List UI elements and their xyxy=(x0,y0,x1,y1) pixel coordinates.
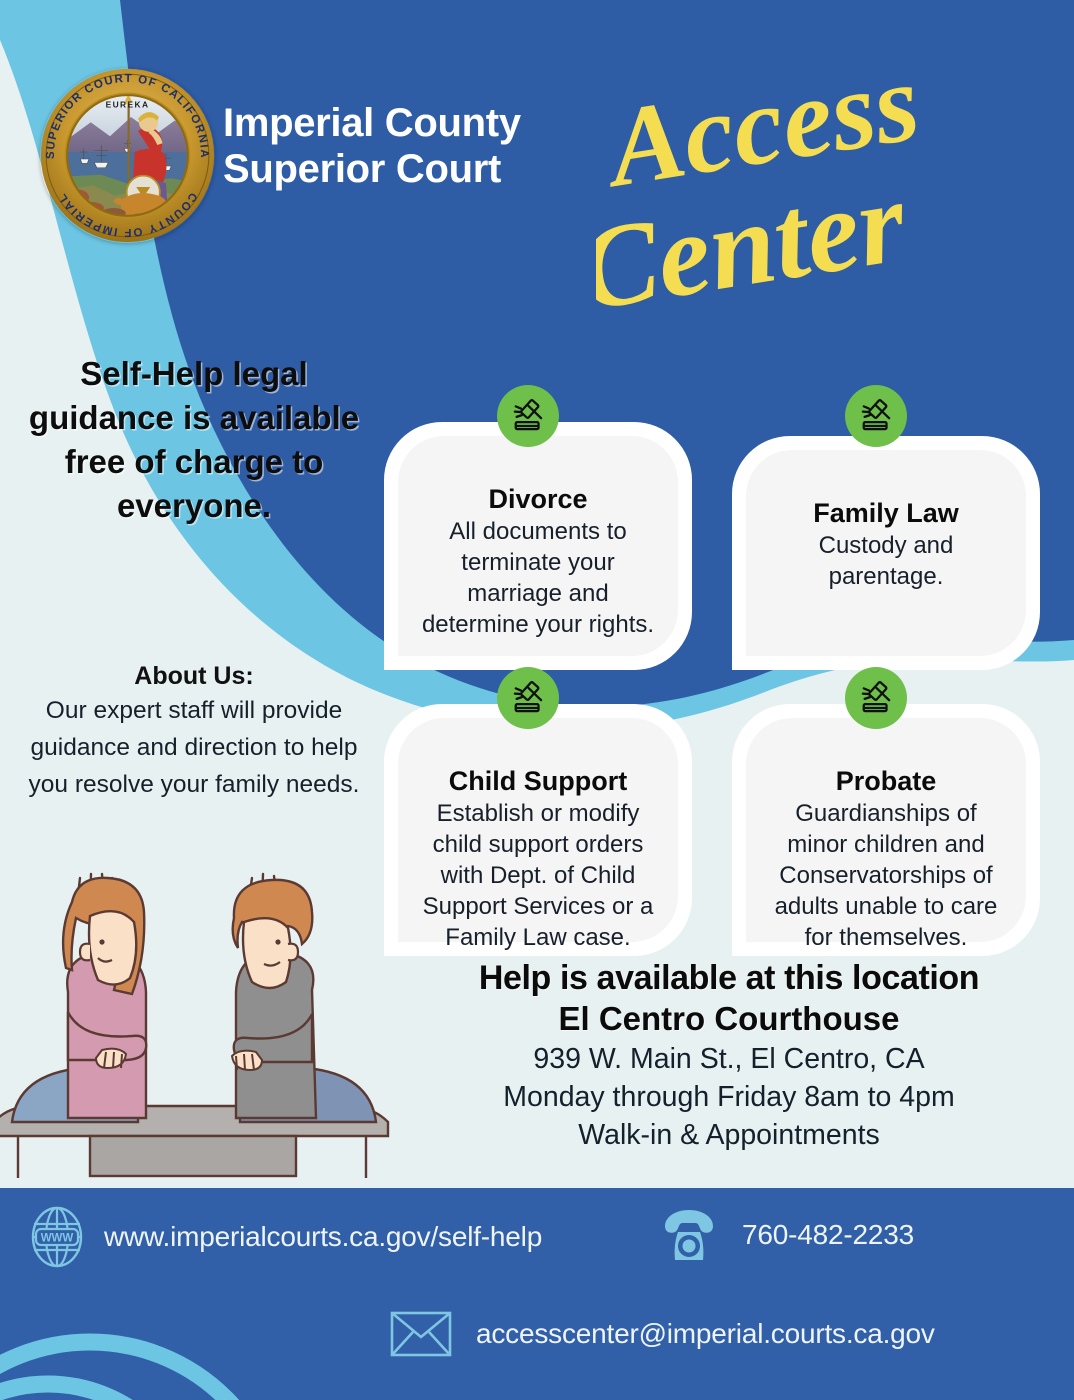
page-title: Imperial County Superior Court xyxy=(223,100,623,192)
card-content: Probate Guardianships of minor children … xyxy=(746,718,1026,942)
svg-text:WWW: WWW xyxy=(41,1233,74,1245)
access-center-wordmark: Access Center xyxy=(596,58,1066,338)
gavel-icon xyxy=(845,667,907,729)
envelope-icon xyxy=(390,1310,452,1358)
services-card-grid: Divorce All documents to terminate your … xyxy=(384,378,1074,958)
card-content: Child Support Establish or modify child … xyxy=(398,718,678,942)
location-block: Help is available at this location El Ce… xyxy=(384,958,1074,1155)
decorative-arcs xyxy=(0,1266,300,1400)
card-title: Divorce xyxy=(488,484,587,515)
lead-statement: Self-Help legal guidance is available fr… xyxy=(8,352,380,528)
card-content: Family Law Custody and parentage. xyxy=(746,450,1026,656)
page-header: SUPERIOR COURT OF CALIFORNIA COUNTY OF I… xyxy=(0,0,1074,330)
service-card-family-law[interactable]: Family Law Custody and parentage. xyxy=(732,436,1040,670)
card-body: Establish or modify child support orders… xyxy=(414,799,662,954)
access-center-script-graphic: Access Center xyxy=(596,58,1066,338)
card-body: Guardianships of minor children and Cons… xyxy=(762,799,1010,954)
location-headline: Help is available at this location xyxy=(384,958,1074,998)
about-us-body: Our expert staff will provide guidance a… xyxy=(14,693,374,803)
email-contact-row[interactable]: accesscenter@imperial.courts.ca.gov xyxy=(390,1310,935,1358)
gavel-icon xyxy=(845,385,907,447)
card-title: Family Law xyxy=(813,498,959,529)
website-contact-row[interactable]: WWW www.imperialcourts.ca.gov/self-help xyxy=(30,1206,542,1268)
phone-contact-row[interactable]: 760-482-2233 xyxy=(662,1204,914,1266)
globe-www-icon: WWW xyxy=(30,1206,84,1268)
svg-text:EUREKA: EUREKA xyxy=(106,99,150,109)
card-content: Divorce All documents to terminate your … xyxy=(398,436,678,656)
couple-back-to-back-illustration xyxy=(0,872,394,1182)
court-name-line1: Imperial County xyxy=(223,100,623,146)
gavel-icon-glyph xyxy=(507,395,549,437)
card-body: All documents to terminate your marriage… xyxy=(414,517,662,641)
service-card-child-support[interactable]: Child Support Establish or modify child … xyxy=(384,704,692,956)
location-address: 939 W. Main St., El Centro, CA xyxy=(384,1041,1074,1079)
service-card-probate[interactable]: Probate Guardianships of minor children … xyxy=(732,704,1040,956)
gavel-icon xyxy=(497,667,559,729)
court-seal-logo: SUPERIOR COURT OF CALIFORNIA COUNTY OF I… xyxy=(40,68,215,243)
location-hours: Monday through Friday 8am to 4pm xyxy=(384,1079,1074,1117)
gavel-icon-glyph xyxy=(855,395,897,437)
card-body: Custody and parentage. xyxy=(762,531,1010,593)
gavel-icon xyxy=(497,385,559,447)
gavel-icon-glyph xyxy=(855,677,897,719)
location-site-name: El Centro Courthouse xyxy=(384,998,1074,1041)
contact-footer: WWW www.imperialcourts.ca.gov/self-help … xyxy=(0,1188,1074,1400)
arcs-graphic xyxy=(0,1266,300,1400)
card-title: Probate xyxy=(836,766,937,797)
couple-graphic xyxy=(0,872,394,1182)
court-name-line2: Superior Court xyxy=(223,146,623,192)
website-url[interactable]: www.imperialcourts.ca.gov/self-help xyxy=(104,1221,542,1253)
location-access: Walk-in & Appointments xyxy=(384,1117,1074,1155)
email-address[interactable]: accesscenter@imperial.courts.ca.gov xyxy=(476,1318,935,1350)
about-us-block: About Us: Our expert staff will provide … xyxy=(14,662,374,803)
phone-number[interactable]: 760-482-2233 xyxy=(742,1219,914,1251)
card-title: Child Support xyxy=(449,766,627,797)
about-us-title: About Us: xyxy=(14,662,374,691)
service-card-divorce[interactable]: Divorce All documents to terminate your … xyxy=(384,422,692,670)
seal-graphic: SUPERIOR COURT OF CALIFORNIA COUNTY OF I… xyxy=(40,68,215,243)
telephone-icon xyxy=(662,1204,716,1266)
gavel-icon-glyph xyxy=(507,677,549,719)
